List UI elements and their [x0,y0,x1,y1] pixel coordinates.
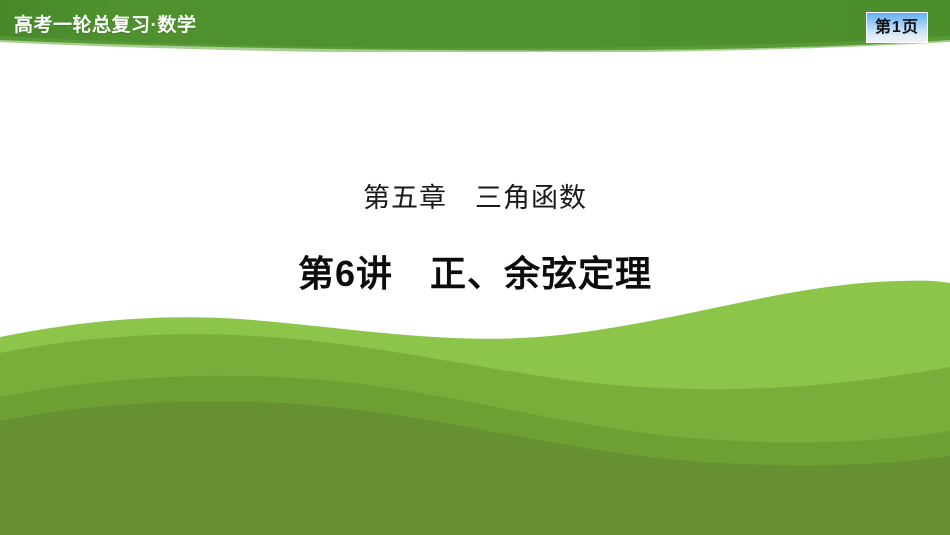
page-number-badge[interactable]: 第1页 [866,12,928,43]
header-bar: 高考一轮总复习·数学 [0,0,950,52]
slide-canvas: 第五章 三角函数 第6讲 正、余弦定理 高考一轮总复习·数学 第1页 [0,0,950,535]
header-title: 高考一轮总复习·数学 [14,10,196,37]
page-number-label: 第1页 [875,20,919,36]
lecture-title: 第6讲 正、余弦定理 [0,245,950,297]
decorative-waves [0,275,950,535]
chapter-title: 第五章 三角函数 [0,176,950,215]
